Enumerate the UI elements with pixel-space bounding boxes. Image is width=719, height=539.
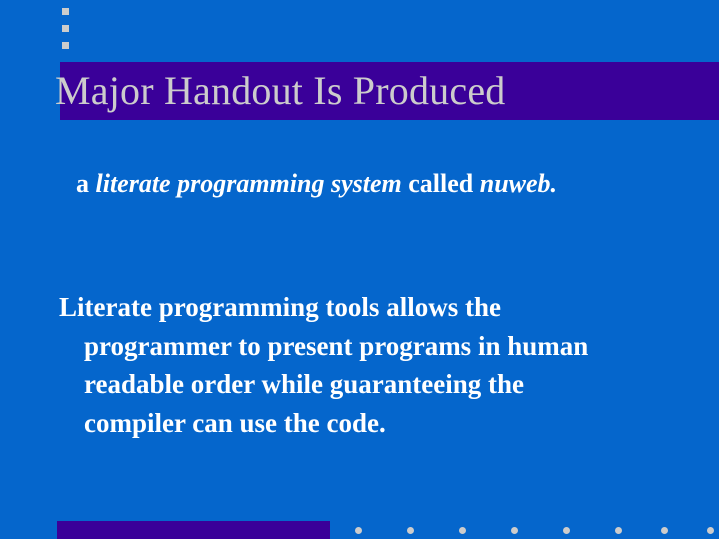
round-dot-icon xyxy=(355,527,362,534)
body-paragraph-1: a literate programming system called nuw… xyxy=(101,165,621,203)
slide-title: Major Handout Is Produced xyxy=(55,60,715,122)
round-dot-icon xyxy=(563,527,570,534)
run-text-italic: nuweb. xyxy=(480,169,557,198)
round-dot-icon xyxy=(459,527,466,534)
bottom-accent-bar xyxy=(57,521,330,539)
square-dot-icon xyxy=(62,8,69,15)
run-text: a xyxy=(76,169,96,198)
run-text: called xyxy=(402,169,480,198)
square-dot-icon xyxy=(62,25,69,32)
round-dot-icon xyxy=(511,527,518,534)
corner-dot-decoration xyxy=(62,8,72,54)
round-dot-icon xyxy=(661,527,668,534)
round-dot-icon xyxy=(615,527,622,534)
square-dot-icon xyxy=(62,42,69,49)
bottom-dot-decoration xyxy=(355,527,719,539)
body-paragraph-2: Literate programming tools allows the pr… xyxy=(84,288,629,442)
round-dot-icon xyxy=(707,527,714,534)
slide-canvas: Major Handout Is Produced a literate pro… xyxy=(0,0,719,539)
round-dot-icon xyxy=(407,527,414,534)
run-text-italic: literate programming system xyxy=(96,169,402,198)
